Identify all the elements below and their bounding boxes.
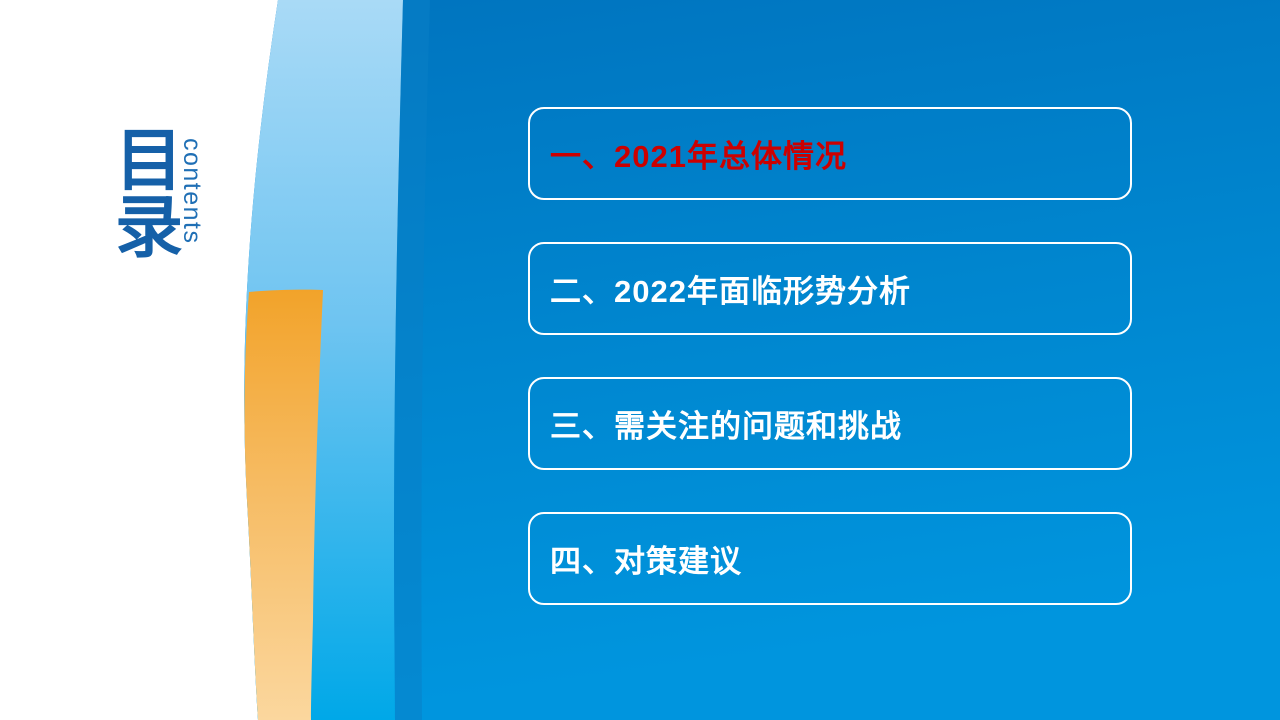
agenda-item-3[interactable]: 三、需关注的问题和挑战 (528, 377, 1132, 470)
agenda-list: 一、2021年总体情况 二、2022年面临形势分析 三、需关注的问题和挑战 四、… (528, 107, 1132, 605)
agenda-item-3-label: 三、需关注的问题和挑战 (550, 401, 902, 446)
agenda-item-4[interactable]: 四、对策建议 (528, 512, 1132, 605)
agenda-item-1[interactable]: 一、2021年总体情况 (528, 107, 1132, 200)
page-title: 目 录 (113, 128, 185, 261)
page-subtitle-contents: contents (177, 138, 206, 245)
orange-curve-band (245, 290, 323, 720)
toc-heading-group: 目 录 contents (105, 128, 265, 308)
agenda-item-2[interactable]: 二、2022年面临形势分析 (528, 242, 1132, 335)
agenda-item-1-label: 一、2021年总体情况 (550, 131, 847, 176)
white-panel-shape (0, 0, 278, 720)
agenda-item-4-label: 四、对策建议 (550, 536, 742, 581)
page-title-char-2: 录 (113, 195, 185, 262)
page-title-char-1: 目 (113, 128, 185, 195)
presentation-slide: 目 录 contents 一、2021年总体情况 二、2022年面临形势分析 三… (0, 0, 1280, 720)
agenda-item-2-label: 二、2022年面临形势分析 (550, 266, 911, 311)
